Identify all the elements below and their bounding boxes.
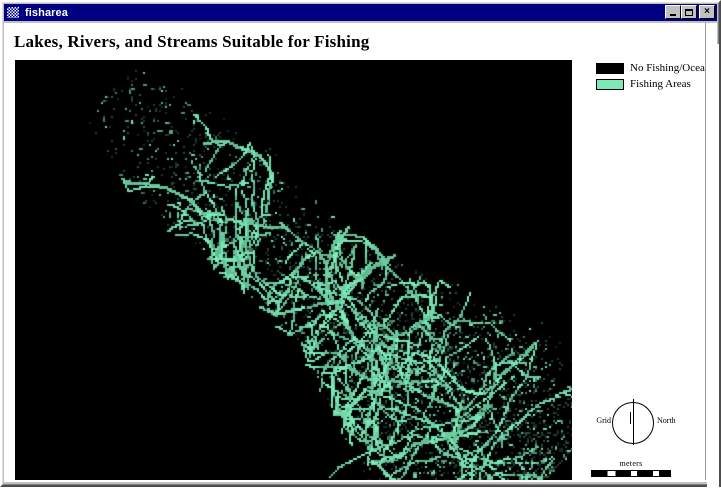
window-title: fisharea: [25, 7, 68, 19]
grid-dots-icon: [6, 6, 20, 19]
page-title: Lakes, Rivers, and Streams Suitable for …: [14, 32, 369, 52]
close-icon: ×: [700, 6, 714, 18]
close-button[interactable]: ×: [699, 5, 715, 19]
compass-needle-icon: [633, 399, 634, 445]
legend-label: No Fishing/Ocean: [630, 63, 706, 74]
map-raster-canvas[interactable]: [15, 60, 572, 480]
compass-rose: Grid North: [581, 399, 701, 447]
legend-item: Fishing Areas: [596, 77, 704, 92]
minimize-button[interactable]: [665, 5, 681, 19]
legend-swatch-fishing-areas: [596, 79, 624, 90]
client-area: Lakes, Rivers, and Streams Suitable for …: [4, 23, 717, 482]
map-legend: No Fishing/Ocean Fishing Areas: [596, 61, 704, 93]
application-window: fisharea × Lakes, Rivers, and Streams Su…: [0, 0, 721, 487]
title-bar[interactable]: fisharea ×: [4, 4, 717, 21]
maximize-button[interactable]: [681, 5, 697, 19]
maximize-icon: [685, 9, 693, 16]
scale-bar: meters 59391.77: [590, 459, 706, 480]
scale-bar-units: meters: [590, 459, 672, 468]
compass-declination-tick-icon: [630, 412, 631, 424]
legend-swatch-no-fishing: [596, 63, 624, 74]
compass-label-grid: Grid: [581, 416, 611, 425]
window-controls: ×: [665, 5, 715, 19]
map-frame[interactable]: [15, 60, 572, 480]
legend-label: Fishing Areas: [630, 79, 691, 90]
minimize-icon: [670, 14, 676, 16]
compass-label-north: North: [657, 416, 676, 425]
legend-item: No Fishing/Ocean: [596, 61, 704, 76]
scale-bar-graphic: [591, 470, 671, 477]
map-document-page: Lakes, Rivers, and Streams Suitable for …: [4, 23, 706, 480]
page-right-margin: [707, 44, 719, 503]
